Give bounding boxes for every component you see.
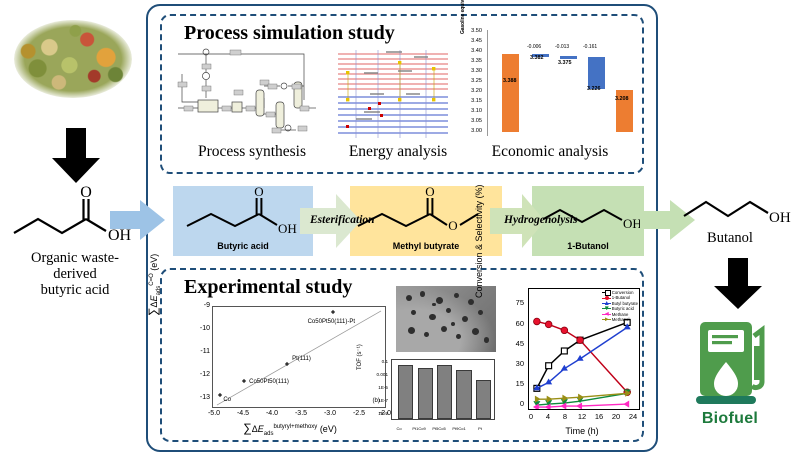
economic-analysis-caption: Economic analysis	[464, 143, 636, 161]
tof-xtick: Pt	[478, 426, 482, 431]
down-arrow	[50, 128, 102, 184]
tof-ytick: 1E-7	[372, 398, 388, 403]
line-chart-legend: Conversion 1-Butanol Butyl butyrate Buty…	[602, 290, 638, 322]
reaction-pathway-row: O OH Butyric acid O O Methyl butyrate OH…	[160, 186, 644, 256]
econ-ytick: 3.50	[466, 28, 482, 34]
energy-analysis-chart	[334, 48, 452, 140]
reaction-step-label: 1-Butanol	[532, 241, 644, 251]
hydroxyl-label: OH	[623, 216, 642, 231]
carbonyl-o-label: O	[254, 186, 263, 199]
scatter-xtick: -4.0	[266, 410, 278, 417]
tof-bar	[418, 368, 433, 419]
line-plot-area: Conversion 1-Butanol Butyl butyrate Buty…	[528, 288, 640, 410]
scatter-point-label: Co	[223, 397, 231, 403]
feedstock-caption-line2: derived	[0, 266, 150, 282]
reaction-step-butyric-acid: O OH Butyric acid	[173, 186, 313, 256]
hydroxyl-label: OH	[278, 221, 297, 236]
tof-ytick: 1E-9	[372, 411, 388, 416]
legend-swatch	[602, 307, 611, 310]
feedstock-caption-line1: Organic waste-	[0, 250, 150, 266]
fuel-pump-icon	[692, 316, 778, 408]
tof-bar	[456, 370, 471, 419]
scatter-point-label: Co50Pt50(111)	[249, 379, 289, 385]
scatter-xtick: -4.5	[237, 410, 249, 417]
line-x-axis-label: Time (h)	[526, 426, 638, 436]
esterification-label: Esterification	[310, 214, 375, 226]
econ-delta-label: -0.013	[555, 44, 569, 50]
econ-value-label: 3.382	[530, 55, 544, 61]
econ-delta-label: -0.161	[583, 44, 597, 50]
econ-ytick: 3.05	[466, 118, 482, 124]
tof-plot-area	[391, 359, 495, 420]
line-ytick: 15	[506, 379, 524, 388]
economic-plot-area: -0.006 -0.013 -0.161 3.388 3.382 3.375 3…	[487, 30, 636, 136]
tof-bar	[437, 365, 452, 419]
legend-label: Methanol	[612, 317, 630, 322]
butanol-caption: Butanol	[660, 230, 800, 247]
scatter-y-axis-label: ∑ΔEadsC=O (eV)	[146, 212, 162, 316]
line-ytick: 75	[506, 298, 524, 307]
econ-bar-delta3	[588, 57, 605, 89]
legend-swatch	[602, 313, 611, 316]
line-xtick: 24	[629, 412, 637, 421]
line-y-axis-label: Conversion & Selectivity (%)	[474, 188, 484, 298]
scatter-xtick: -5.0	[208, 410, 220, 417]
econ-ytick: 3.40	[466, 48, 482, 54]
econ-value-label: 3.375	[558, 60, 572, 66]
ester-o-label: O	[448, 218, 457, 233]
legend-swatch	[602, 302, 611, 305]
scatter-ytick: -10	[194, 325, 210, 332]
tof-bar-chart: TOF (s⁻¹) 0.1 0.001 1E-5 1E-7 1E-9 Co Pt…	[370, 356, 498, 436]
line-ytick: 45	[506, 339, 524, 348]
econ-value-label: 3.208	[615, 96, 629, 102]
feedstock-caption-line3: butyric acid	[0, 282, 150, 298]
econ-bar-base	[502, 54, 519, 132]
food-waste-photo	[14, 20, 132, 98]
econ-delta-label: -0.006	[527, 44, 541, 50]
legend-swatch	[602, 318, 611, 321]
legend-swatch	[602, 291, 611, 294]
econ-value-label: 3.388	[503, 78, 517, 84]
tof-ytick: 0.1	[372, 359, 388, 364]
econ-bar-delta2	[560, 56, 577, 59]
carbonyl-o-label: O	[425, 186, 434, 199]
process-simulation-title: Process simulation study	[184, 22, 395, 45]
tof-y-axis-label: TOF (s⁻¹)	[356, 316, 363, 370]
econ-ytick: 3.15	[466, 98, 482, 104]
process-synthesis-caption: Process synthesis	[172, 143, 332, 161]
tof-bar	[398, 365, 413, 419]
line-xtick: 4	[546, 412, 550, 421]
econ-ytick: 3.45	[466, 38, 482, 44]
energy-analysis-caption: Energy analysis	[332, 143, 464, 161]
butanol-structure: OH	[680, 188, 792, 228]
conversion-selectivity-chart: Conversion & Selectivity (%) Time (h) 75…	[504, 286, 642, 436]
feedstock-caption: Organic waste- derived butyric acid	[0, 250, 150, 298]
econ-ytick: 3.30	[466, 68, 482, 74]
line-xtick: 20	[612, 412, 620, 421]
line-xtick: 8	[563, 412, 567, 421]
scatter-x-axis-label: ∑ΔEadsbutyryl+methoxy (eV)	[200, 421, 380, 437]
legend-item: Methanol	[602, 317, 638, 322]
line-xtick: 0	[529, 412, 533, 421]
reaction-step-label: Butyric acid	[173, 241, 313, 251]
scatter-xtick: -2.5	[353, 410, 365, 417]
hydrogenolysis-label: Hydrogenolysis	[504, 214, 577, 226]
line-ytick: 60	[506, 319, 524, 328]
econ-ytick: 3.10	[466, 108, 482, 114]
econ-ytick: 3.20	[466, 88, 482, 94]
process-flowsheet-diagram	[176, 46, 318, 140]
tof-ytick: 0.001	[372, 372, 388, 377]
econ-ytick: 3.25	[466, 78, 482, 84]
line-ytick: 30	[506, 359, 524, 368]
line-xtick: 16	[595, 412, 603, 421]
scatter-xtick: -3.0	[324, 410, 336, 417]
scatter-ytick: -12	[194, 371, 210, 378]
tof-xtick: Pt5Co5	[432, 426, 445, 431]
tof-ytick: 1E-5	[372, 385, 388, 390]
down-arrow	[712, 258, 764, 310]
scatter-ytick: -11	[194, 348, 210, 355]
economic-analysis-chart: Gasoline equivalent MSP [$/GGE] 3.50 3.4…	[462, 28, 638, 140]
tof-xtick: Pt1Co9	[412, 426, 425, 431]
scatter-point-label: Co50Pt50(111)-Pt	[308, 319, 355, 325]
econ-ytick: 3.35	[466, 58, 482, 64]
hydroxyl-label: OH	[769, 210, 791, 226]
econ-value-label: 3.226	[587, 86, 601, 92]
econ-ytick: 3.00	[466, 128, 482, 134]
scatter-ytick: -9	[194, 302, 210, 309]
line-ytick: 0	[506, 399, 524, 408]
tof-xtick: Pt9Co1	[452, 426, 465, 431]
biofuel-caption: Biofuel	[660, 410, 800, 428]
legend-swatch	[602, 297, 611, 300]
scatter-xtick: -3.5	[295, 410, 307, 417]
tof-bar	[476, 380, 491, 419]
line-xtick: 12	[578, 412, 586, 421]
tof-xtick: Co	[396, 426, 401, 431]
carbonyl-o-label: O	[80, 185, 92, 201]
experimental-study-title: Experimental study	[184, 276, 352, 299]
scatter-ytick: -13	[194, 394, 210, 401]
scatter-point-label: Pt(111)	[292, 356, 311, 362]
